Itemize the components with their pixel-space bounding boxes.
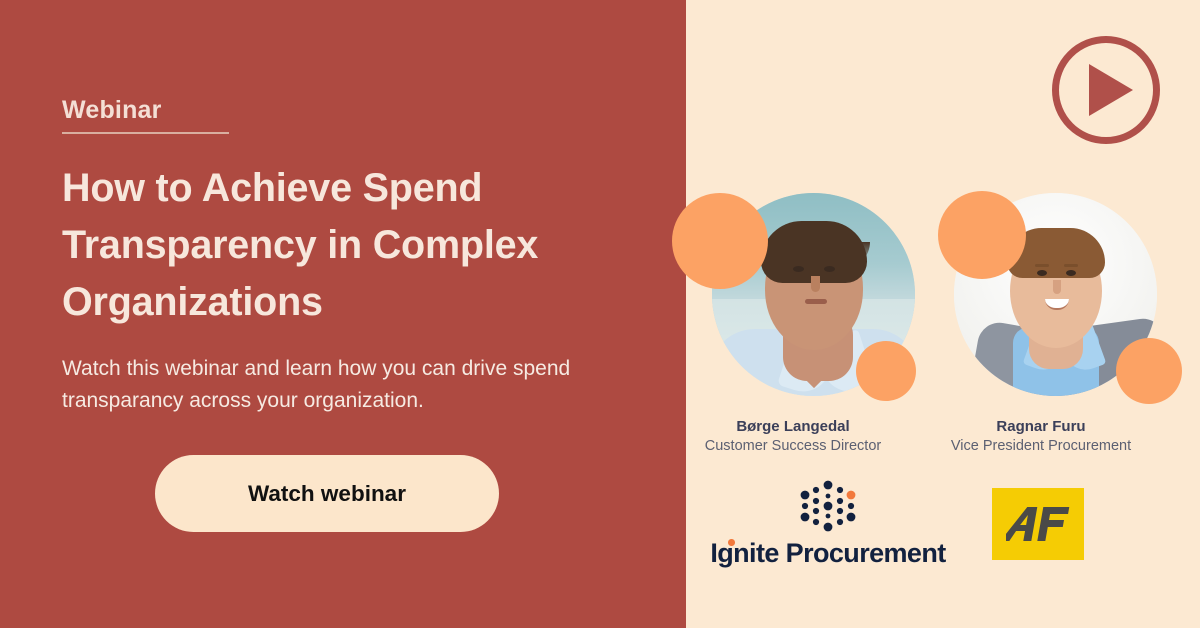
eyebrow-label: Webinar xyxy=(62,96,162,125)
eyebrow-block: Webinar xyxy=(62,96,686,134)
avatar-zone xyxy=(932,186,1150,404)
ignite-i-dot-icon xyxy=(728,539,735,546)
orange-accent-circle xyxy=(1116,338,1182,404)
watch-webinar-button[interactable]: Watch webinar xyxy=(155,455,499,532)
speaker-card: Ragnar Furu Vice President Procurement xyxy=(932,186,1150,454)
af-logo-icon xyxy=(992,488,1084,560)
eyebrow-underline xyxy=(62,132,229,134)
logos-row: Ignite Procurement xyxy=(686,480,1200,590)
af-letters-icon xyxy=(1006,503,1070,545)
webinar-promo-banner: Webinar How to Achieve Spend Transparenc… xyxy=(0,0,1200,628)
play-triangle-icon xyxy=(1089,64,1133,116)
left-content-panel: Webinar How to Achieve Spend Transparenc… xyxy=(0,0,686,628)
speaker-title: Vice President Procurement xyxy=(932,438,1150,454)
ignite-wordmark-text: Ignite Procurement xyxy=(710,538,945,568)
orange-accent-circle xyxy=(856,341,916,401)
cta-container: Watch webinar xyxy=(62,455,686,532)
speaker-card: Børge Langedal Customer Success Director xyxy=(684,186,902,454)
avatar-zone xyxy=(684,186,902,404)
subtitle-text: Watch this webinar and learn how you can… xyxy=(62,353,592,417)
ignite-dot-cluster-icon xyxy=(796,480,860,532)
play-circle-icon[interactable] xyxy=(1052,36,1160,144)
orange-accent-circle xyxy=(672,193,768,289)
orange-accent-circle xyxy=(938,191,1026,279)
ignite-wordmark: Ignite Procurement xyxy=(710,538,945,569)
speaker-name: Børge Langedal xyxy=(684,418,902,435)
speaker-name: Ragnar Furu xyxy=(932,418,1150,435)
speaker-title: Customer Success Director xyxy=(684,438,902,454)
page-title: How to Achieve Spend Transparency in Com… xyxy=(62,160,582,332)
right-media-panel: Børge Langedal Customer Success Director xyxy=(686,0,1200,628)
ignite-procurement-logo: Ignite Procurement xyxy=(696,480,960,569)
